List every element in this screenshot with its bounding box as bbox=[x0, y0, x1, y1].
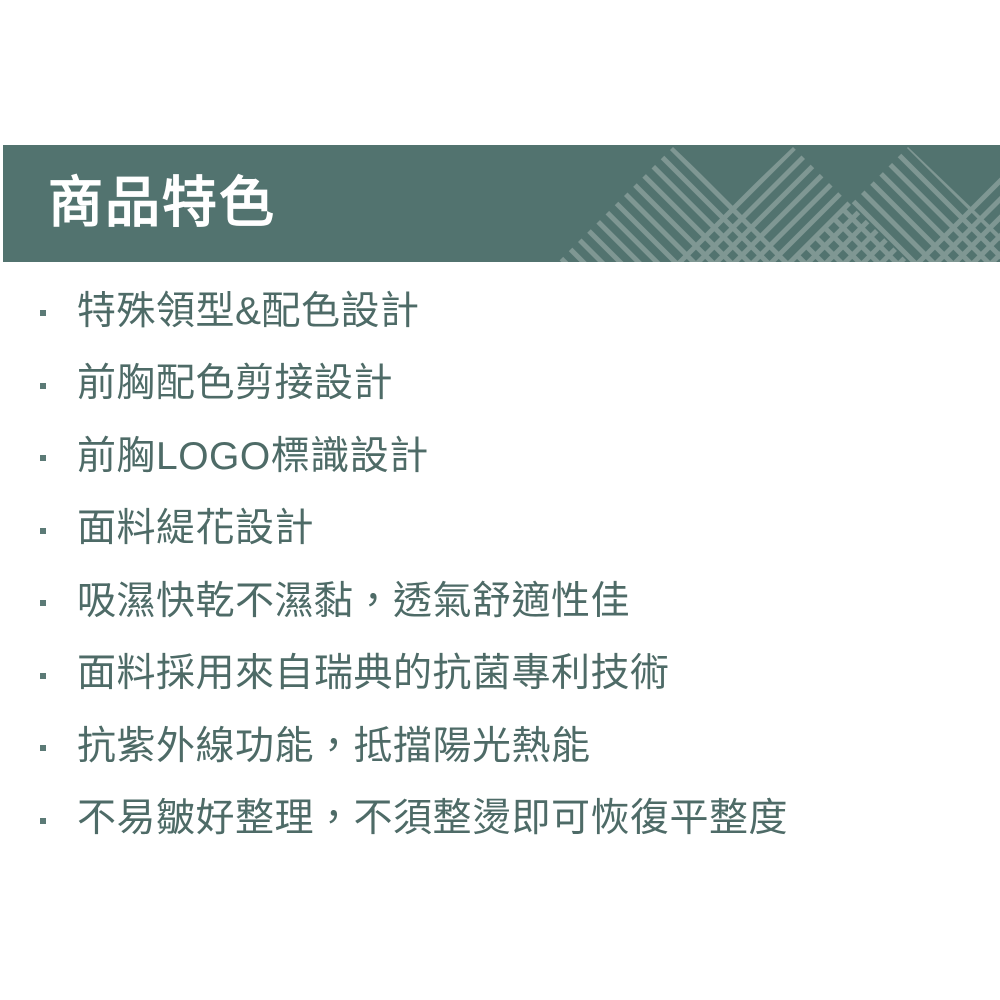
bullet-icon bbox=[40, 310, 46, 316]
list-item-label: 不易皺好整理，不須整燙即可恢復平整度 bbox=[77, 799, 788, 840]
list-item: 特殊領型&配色設計 bbox=[0, 276, 1000, 349]
page-title: 商品特色 bbox=[48, 175, 276, 230]
section-header-banner: 商品特色 bbox=[3, 145, 1000, 262]
list-item: 抗紫外線功能，抵擋陽光熱能 bbox=[0, 711, 1000, 784]
list-item-label: 面料緹花設計 bbox=[77, 509, 314, 550]
bullet-icon bbox=[40, 600, 46, 606]
list-item: 前胸配色剪接設計 bbox=[0, 349, 1000, 422]
feature-list: 特殊領型&配色設計 前胸配色剪接設計 前胸LOGO標識設計 面料緹花設計 吸濕快… bbox=[0, 276, 1000, 856]
bullet-icon bbox=[40, 528, 46, 534]
list-item: 不易皺好整理，不須整燙即可恢復平整度 bbox=[0, 784, 1000, 857]
list-item-label: 特殊領型&配色設計 bbox=[77, 292, 420, 333]
list-item: 前胸LOGO標識設計 bbox=[0, 421, 1000, 494]
bullet-icon bbox=[40, 383, 46, 389]
bullet-icon bbox=[40, 818, 46, 824]
list-item-label: 前胸配色剪接設計 bbox=[77, 364, 393, 405]
list-item: 吸濕快乾不濕黏，透氣舒適性佳 bbox=[0, 566, 1000, 639]
list-item: 面料緹花設計 bbox=[0, 494, 1000, 567]
list-item-label: 吸濕快乾不濕黏，透氣舒適性佳 bbox=[77, 582, 630, 623]
list-item-label: 前胸LOGO標識設計 bbox=[77, 437, 429, 478]
list-item: 面料採用來自瑞典的抗菌專利技術 bbox=[0, 639, 1000, 712]
list-item-label: 面料採用來自瑞典的抗菌專利技術 bbox=[77, 654, 670, 695]
bullet-icon bbox=[40, 673, 46, 679]
bullet-icon bbox=[40, 745, 46, 751]
list-item-label: 抗紫外線功能，抵擋陽光熱能 bbox=[77, 727, 591, 768]
bullet-icon bbox=[40, 455, 46, 461]
product-features-page: 商品特色 特殊領型&配色設計 前胸配色剪接設計 前胸LOGO標識設計 面料緹花設… bbox=[0, 0, 1000, 1000]
